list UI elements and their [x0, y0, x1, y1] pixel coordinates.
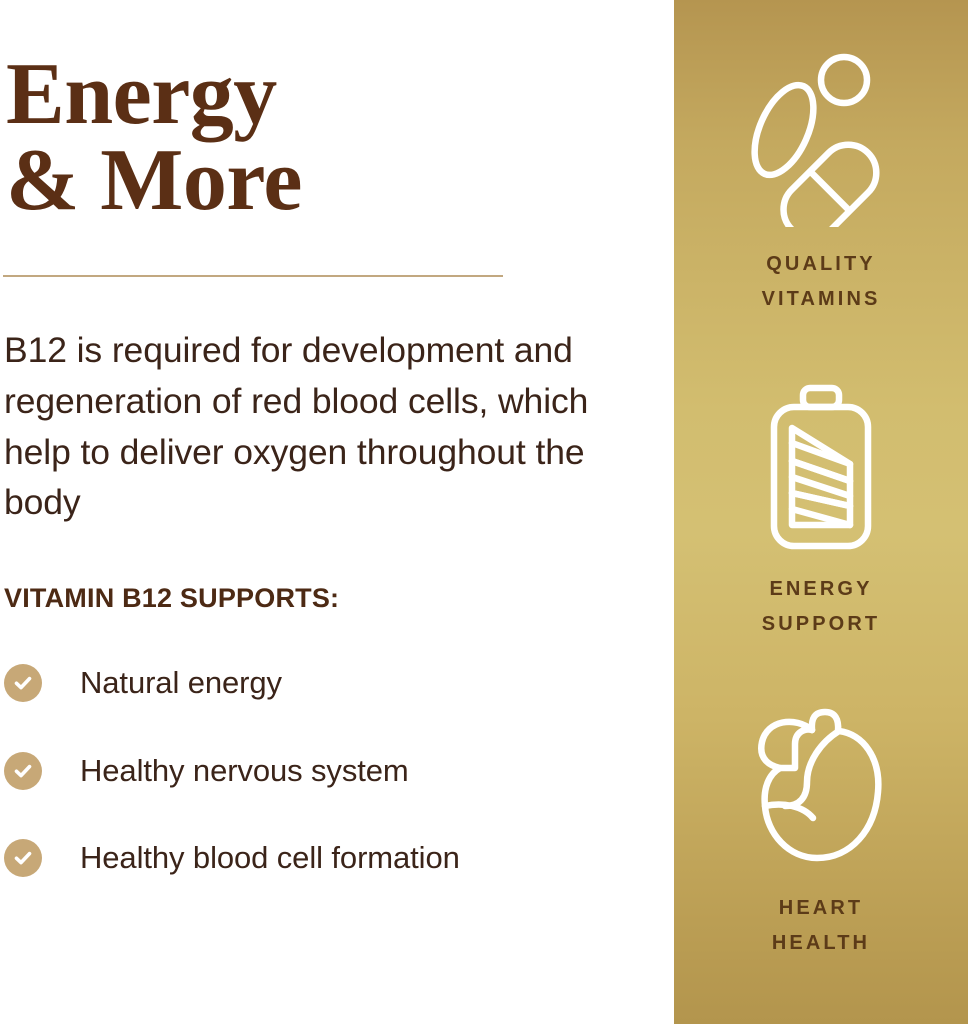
feature-quality-vitamins: QUALITY VITAMINS — [674, 52, 968, 317]
product-info-panel: Energy & More B12 is required for develo… — [0, 0, 968, 1024]
description-paragraph: B12 is required for development and rege… — [4, 325, 624, 528]
feature-label: QUALITY VITAMINS — [762, 247, 881, 317]
page-title: Energy & More — [6, 52, 606, 224]
benefit-label: Natural energy — [80, 662, 282, 703]
list-item: Healthy nervous system — [4, 750, 604, 791]
title-divider — [3, 275, 503, 277]
battery-icon — [762, 382, 880, 552]
feature-sidebar: QUALITY VITAMINS — [674, 0, 968, 1024]
supports-heading: VITAMIN B12 SUPPORTS: — [4, 583, 339, 614]
check-icon — [4, 839, 42, 877]
check-icon — [4, 752, 42, 790]
benefit-label: Healthy nervous system — [80, 750, 409, 791]
list-item: Natural energy — [4, 662, 604, 703]
benefit-label: Healthy blood cell formation — [80, 837, 460, 878]
check-icon — [4, 664, 42, 702]
left-content-column: Energy & More B12 is required for develo… — [0, 0, 674, 1024]
pills-icon — [741, 52, 901, 227]
list-item: Healthy blood cell formation — [4, 837, 604, 878]
feature-energy-support: ENERGY SUPPORT — [674, 382, 968, 642]
heart-icon — [751, 706, 891, 871]
feature-heart-health: HEART HEALTH — [674, 706, 968, 961]
feature-label: HEART HEALTH — [772, 891, 870, 961]
benefits-list: Natural energy Healthy nervous system He… — [4, 662, 604, 878]
feature-label: ENERGY SUPPORT — [762, 572, 880, 642]
